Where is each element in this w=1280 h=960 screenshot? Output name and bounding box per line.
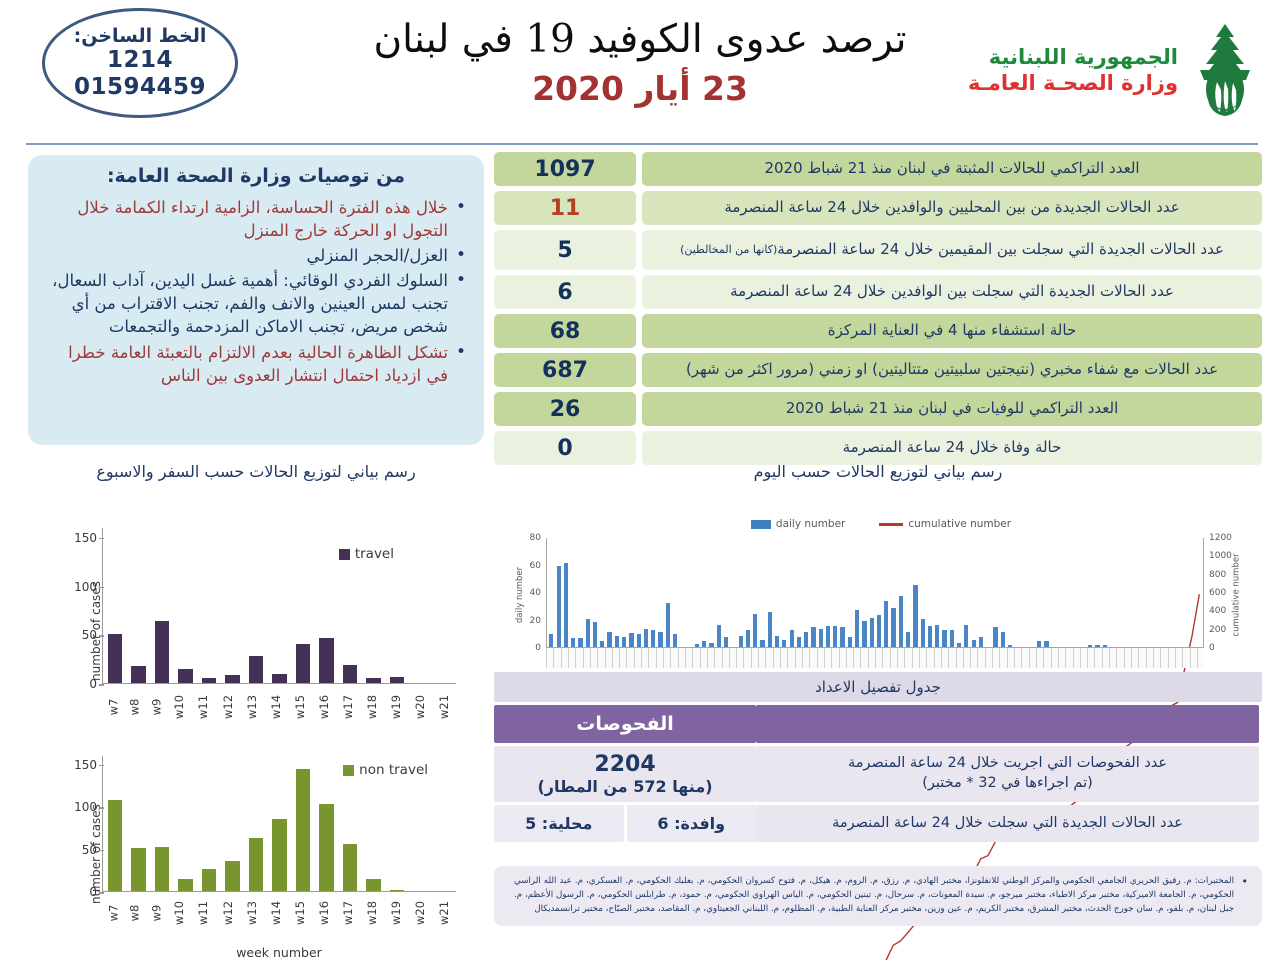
- daily-x-tick: [956, 648, 963, 668]
- daily-legend: daily number cumulative number: [500, 518, 1262, 530]
- daily-x-tick: [926, 648, 933, 668]
- tests-exams-airport-note: (منها 572 من المطار): [537, 777, 712, 796]
- daily-x-tick: [1087, 648, 1094, 668]
- recommendations-panel: من توصيات وزارة الصحة العامة: خلال هذه ا…: [28, 155, 484, 445]
- tests-table: جدول تفصيل الاعداد الفحوصات عدد الفحوصات…: [494, 672, 1262, 842]
- daily-x-tick: [1168, 648, 1175, 668]
- tests-exams-count: 2204: [594, 752, 655, 777]
- daily-x-tick: [765, 648, 772, 668]
- tests-new-cases-incoming: وافدة: 6: [627, 805, 757, 842]
- tests-row-new-cases: عدد الحالات الجديدة التي سجلت خلال 24 سا…: [494, 805, 1262, 842]
- chart-travel-cases: number of cases 050100150 w7w8w9w10w11w1…: [44, 520, 464, 742]
- nontravel-legend: non travel: [343, 762, 428, 778]
- hotline-badge: الخط الساخن: 1214 01594459: [42, 8, 238, 118]
- bar-cell: [244, 528, 268, 684]
- cumulative-legend-swatch: [879, 523, 903, 526]
- daily-x-tick: [1029, 648, 1036, 668]
- cumulative-y-tick: 600: [1209, 588, 1226, 598]
- daily-x-tick: [904, 648, 911, 668]
- x-label: w8: [124, 892, 146, 938]
- hotline-number-primary: 1214: [107, 47, 173, 74]
- bar-cell: [291, 756, 315, 892]
- nontravel-x-axis-title: week number: [102, 945, 456, 960]
- daily-x-tick: [663, 648, 670, 668]
- daily-x-tick: [707, 648, 714, 668]
- chart-cases-by-day: daily number cumulative number daily num…: [500, 516, 1262, 674]
- daily-x-tick: [1007, 648, 1014, 668]
- chart-non-travel-cases: number of cases 050100150 w7w8w9w10w11w1…: [44, 748, 464, 960]
- daily-x-tick: [1131, 648, 1138, 668]
- daily-x-tick: [948, 648, 955, 668]
- x-label: w9: [146, 892, 168, 938]
- bar-cell: [244, 756, 268, 892]
- stat-label-note-3: (كانها من المخالطين): [680, 244, 777, 257]
- travel-plot-area: 050100150: [102, 528, 456, 684]
- daily-x-tick: [1124, 648, 1131, 668]
- x-label: w21: [432, 892, 456, 938]
- daily-x-tick: [992, 648, 999, 668]
- stat-row: حالة وفاة خلال 24 ساعة المنصرمة0: [494, 431, 1262, 465]
- daily-y-tick: 80: [530, 533, 541, 543]
- daily-x-tick: [860, 648, 867, 668]
- daily-x-tick: [839, 648, 846, 668]
- daily-x-tick: [641, 648, 648, 668]
- daily-x-tick: [751, 648, 758, 668]
- daily-x-tick: [634, 648, 641, 668]
- daily-x-tick: [846, 648, 853, 668]
- daily-x-tick: [605, 648, 612, 668]
- x-label: w11: [191, 892, 215, 938]
- bar-cell: [315, 528, 339, 684]
- stat-label-6: عدد الحالات مع شفاء مخبري (نتيجتين سلبيت…: [642, 353, 1262, 387]
- daily-x-tick: [1094, 648, 1101, 668]
- daily-x-tick: [1116, 648, 1123, 668]
- daily-x-tick: [1160, 648, 1167, 668]
- daily-legend-label: daily number: [776, 518, 845, 530]
- daily-x-tick: [831, 648, 838, 668]
- cedar-tree-icon: [1186, 20, 1264, 120]
- daily-x-tick: [985, 648, 992, 668]
- bar-w14: [272, 819, 287, 892]
- daily-x-tick: [787, 648, 794, 668]
- daily-x-tick-labels: [546, 648, 1204, 668]
- stat-label-8: حالة وفاة خلال 24 ساعة المنصرمة: [642, 431, 1262, 465]
- daily-x-tick: [1058, 648, 1065, 668]
- y-tick: 100: [74, 800, 97, 814]
- daily-y-tick: 40: [530, 588, 541, 598]
- tests-header-spacer: [756, 705, 1259, 743]
- bar-w15: [249, 656, 264, 684]
- stat-row: العدد التراكمي للحالات المثبتة في لبنان …: [494, 152, 1262, 186]
- y-tick: 150: [74, 758, 97, 772]
- travel-x-labels: w7w8w9w10w11w12w13w14w15w16w17w18w19w20w…: [102, 686, 456, 732]
- bar-cell: [197, 756, 221, 892]
- daily-x-tick: [722, 648, 729, 668]
- daily-x-tick: [897, 648, 904, 668]
- x-label: w15: [288, 892, 312, 938]
- stat-label-3: عدد الحالات الجديدة التي سجلت بين المقيم…: [642, 230, 1262, 270]
- x-label: w17: [336, 686, 360, 732]
- daily-x-tick: [678, 648, 685, 668]
- daily-x-tick: [1021, 648, 1028, 668]
- bar-w12: [319, 638, 334, 684]
- page-header: الخط الساخن: 1214 01594459 ترصد عدوى الك…: [0, 0, 1280, 146]
- daily-x-tick: [1109, 648, 1116, 668]
- tests-new-cases-local: محلية: 5: [494, 805, 624, 842]
- bar-w16: [225, 861, 240, 892]
- daily-x-tick: [912, 648, 919, 668]
- bar-cell: [268, 756, 292, 892]
- daily-x-tick: [714, 648, 721, 668]
- bar-cell: [150, 528, 174, 684]
- bar-cell: [291, 528, 315, 684]
- labs-footnote-text: المختبرات: م. رفيق الحريري الجامعي الحكو…: [514, 874, 1248, 916]
- daily-x-tick: [824, 648, 831, 668]
- daily-x-tick: [692, 648, 699, 668]
- bar-cell: [127, 528, 151, 684]
- daily-x-tick: [1175, 648, 1182, 668]
- daily-x-tick: [934, 648, 941, 668]
- bar-w21: [108, 634, 123, 684]
- daily-x-tick: [656, 648, 663, 668]
- daily-x-tick: [809, 648, 816, 668]
- stat-label-2: عدد الحالات الجديدة من بين المحليين والو…: [642, 191, 1262, 225]
- x-label: w19: [384, 686, 408, 732]
- hotline-label: الخط الساخن:: [74, 25, 207, 47]
- daily-legend-bars: daily number: [751, 518, 845, 530]
- stat-value-6: 687: [494, 353, 636, 387]
- y-tick: 50: [82, 628, 97, 642]
- daily-x-tick: [1080, 648, 1087, 668]
- daily-x-tick: [1182, 648, 1189, 668]
- daily-y-tick: 60: [530, 561, 541, 571]
- stat-label-7: العدد التراكمي للوفيات في لبنان منذ 21 ش…: [642, 392, 1262, 426]
- y-tick: 150: [74, 531, 97, 545]
- stat-value-7: 26: [494, 392, 636, 426]
- daily-x-tick: [802, 648, 809, 668]
- x-label: w13: [240, 892, 264, 938]
- daily-x-tick: [561, 648, 568, 668]
- daily-x-tick: [553, 648, 560, 668]
- x-label: w18: [360, 686, 384, 732]
- y-tick: 0: [89, 677, 97, 691]
- labs-footnote: المختبرات: م. رفيق الحريري الجامعي الحكو…: [494, 866, 1262, 926]
- stat-value-4: 6: [494, 275, 636, 309]
- bar-w19: [155, 621, 170, 684]
- x-label: w10: [167, 686, 191, 732]
- y-tick: 0: [89, 885, 97, 899]
- daily-x-tick: [875, 648, 882, 668]
- daily-x-tick: [1043, 648, 1050, 668]
- daily-x-tick: [619, 648, 626, 668]
- daily-x-tick: [1190, 648, 1197, 668]
- daily-x-tick: [597, 648, 604, 668]
- daily-x-tick: [729, 648, 736, 668]
- daily-x-tick: [970, 648, 977, 668]
- tests-table-title: جدول تفصيل الاعداد: [494, 672, 1262, 702]
- daily-x-tick: [736, 648, 743, 668]
- daily-x-tick: [1051, 648, 1058, 668]
- stat-row: عدد الحالات مع شفاء مخبري (نتيجتين سلبيت…: [494, 353, 1262, 387]
- bar-cell: [268, 528, 292, 684]
- bar-cell: [197, 528, 221, 684]
- daily-x-tick: [941, 648, 948, 668]
- daily-x-tick: [1036, 648, 1043, 668]
- cumulative-y-tick: 1000: [1209, 551, 1232, 561]
- bar-cell: [174, 756, 198, 892]
- stat-row: عدد الحالات الجديدة التي سجلت بين المقيم…: [494, 230, 1262, 270]
- stat-row: العدد التراكمي للوفيات في لبنان منذ 21 ش…: [494, 392, 1262, 426]
- daily-x-tick: [1014, 648, 1021, 668]
- bar-cell: [315, 756, 339, 892]
- x-label: w17: [336, 892, 360, 938]
- daily-x-tick: [977, 648, 984, 668]
- bar-cell: [409, 528, 433, 684]
- x-label: w12: [216, 686, 240, 732]
- x-label: w9: [146, 686, 168, 732]
- daily-x-tick: [853, 648, 860, 668]
- daily-x-tick: [612, 648, 619, 668]
- bar-cell: [432, 528, 456, 684]
- daily-x-tick: [817, 648, 824, 668]
- x-label: w14: [264, 892, 288, 938]
- tests-exams-value: 2204 (منها 572 من المطار): [494, 746, 756, 802]
- right-chart-caption: رسم بياني لتوزيع الحالات حسب اليوم: [494, 462, 1262, 481]
- travel-x-axis: [102, 683, 456, 685]
- cumulative-legend-label: cumulative number: [908, 518, 1011, 530]
- daily-x-tick: [626, 648, 633, 668]
- bar-cell: [103, 528, 127, 684]
- tests-new-cases-label: عدد الحالات الجديدة التي سجلت خلال 24 سا…: [756, 805, 1259, 842]
- bar-cell: [103, 756, 127, 892]
- bar-w20: [131, 666, 146, 684]
- travel-legend-swatch: [339, 549, 350, 560]
- bar-cell: [221, 528, 245, 684]
- daily-y-tick: 20: [530, 616, 541, 626]
- cumulative-y-tick: 800: [1209, 570, 1226, 580]
- cumulative-y-tick: 1200: [1209, 533, 1232, 543]
- x-label: w16: [312, 686, 336, 732]
- tests-exams-label: عدد الفحوصات التي اجريت خلال 24 ساعة الم…: [756, 746, 1259, 802]
- stat-label-5: حالة استشفاء منها 4 في العناية المركزة: [642, 314, 1262, 348]
- cumulative-y-tick: 0: [1209, 643, 1215, 653]
- daily-y-axis-title: daily number: [515, 567, 525, 623]
- daily-x-tick: [882, 648, 889, 668]
- tests-table-header: الفحوصات: [494, 705, 1262, 743]
- daily-x-tick: [758, 648, 765, 668]
- daily-plot-area: 020406080020040060080010001200: [546, 538, 1204, 648]
- recommendation-item-4: تشكل الظاهرة الحالية بعدم الالتزام بالتع…: [44, 341, 468, 387]
- x-label: w7: [102, 686, 124, 732]
- daily-x-tick: [743, 648, 750, 668]
- recommendation-item-1: خلال هذه الفترة الحساسة، الزامية ارتداء …: [44, 196, 468, 242]
- daily-x-tick: [546, 648, 553, 668]
- y-tick: 100: [74, 580, 97, 594]
- daily-x-tick: [648, 648, 655, 668]
- bar-w13: [296, 644, 311, 684]
- daily-x-tick: [1153, 648, 1160, 668]
- daily-x-tick: [963, 648, 970, 668]
- daily-legend-line: cumulative number: [879, 518, 1011, 530]
- daily-x-tick: [868, 648, 875, 668]
- x-label: w21: [432, 686, 456, 732]
- cumulative-y-tick: 200: [1209, 625, 1226, 635]
- y-tick: 50: [82, 843, 97, 857]
- x-label: w19: [384, 892, 408, 938]
- x-label: w12: [216, 892, 240, 938]
- bar-cell: [432, 756, 456, 892]
- logo-ministry-line: وزارة الصحـة العامـة: [968, 71, 1178, 95]
- tests-new-cases-values: وافدة: 6 محلية: 5: [494, 805, 756, 842]
- nontravel-legend-swatch: [343, 765, 354, 776]
- recommendations-list: خلال هذه الفترة الحساسة، الزامية ارتداء …: [44, 196, 468, 387]
- stat-value-5: 68: [494, 314, 636, 348]
- bar-w12: [319, 804, 334, 892]
- recommendation-item-3: السلوك الفردي الوقائي: أهمية غسل اليدين،…: [44, 269, 468, 338]
- stat-value-8: 0: [494, 431, 636, 465]
- ministry-logo-text: الجمهورية اللبنانية وزارة الصحـة العامـة: [968, 44, 1178, 97]
- daily-y-tick: 0: [535, 643, 541, 653]
- daily-x-tick: [568, 648, 575, 668]
- stat-row: حالة استشفاء منها 4 في العناية المركزة68: [494, 314, 1262, 348]
- recommendation-item-2: العزل/الحجر المنزلي: [44, 244, 468, 267]
- daily-x-tick: [795, 648, 802, 668]
- x-label: w20: [408, 686, 432, 732]
- daily-x-tick: [999, 648, 1006, 668]
- daily-x-tick: [670, 648, 677, 668]
- daily-x-tick: [773, 648, 780, 668]
- bar-cell: [174, 528, 198, 684]
- bar-w17: [202, 869, 217, 892]
- bar-w11: [343, 844, 358, 892]
- stat-value-1: 1097: [494, 152, 636, 186]
- travel-legend-label: travel: [355, 546, 394, 562]
- bar-w15: [249, 838, 264, 892]
- x-label: w18: [360, 892, 384, 938]
- daily-x-tick: [1146, 648, 1153, 668]
- daily-x-tick: [583, 648, 590, 668]
- tests-header-label: الفحوصات: [494, 705, 756, 743]
- bar-cell: [127, 756, 151, 892]
- daily-x-tick: [1197, 648, 1204, 668]
- stat-row: عدد الحالات الجديدة من بين المحليين والو…: [494, 191, 1262, 225]
- bar-w21: [108, 800, 123, 892]
- travel-legend: travel: [339, 546, 394, 562]
- stat-label-1: العدد التراكمي للحالات المثبتة في لبنان …: [642, 152, 1262, 186]
- bar-w19: [155, 847, 170, 892]
- daily-legend-swatch: [751, 520, 771, 529]
- header-divider: [26, 143, 1258, 145]
- daily-x-tick: [1102, 648, 1109, 668]
- daily-x-tick: [1065, 648, 1072, 668]
- bar-cell: [150, 756, 174, 892]
- hotline-number-secondary: 01594459: [74, 74, 206, 101]
- left-charts-caption: رسم بياني لتوزيع الحالات حسب السفر والاس…: [28, 462, 484, 481]
- daily-x-tick: [575, 648, 582, 668]
- ministry-logo: الجمهورية اللبنانية وزارة الصحـة العامـة: [968, 20, 1264, 120]
- report-date: 23 أيار 2020: [330, 69, 950, 108]
- x-label: w7: [102, 892, 124, 938]
- cumulative-y-tick: 400: [1209, 606, 1226, 616]
- x-label: w14: [264, 686, 288, 732]
- stat-label-4: عدد الحالات الجديدة التي سجلت بين الوافد…: [642, 275, 1262, 309]
- x-label: w8: [124, 686, 146, 732]
- bar-w20: [131, 848, 146, 892]
- stat-row: عدد الحالات الجديدة التي سجلت بين الوافد…: [494, 275, 1262, 309]
- tests-exams-label-line2: (تم اجراءها في 32 * مختبر): [922, 774, 1093, 794]
- bar-cell: [221, 756, 245, 892]
- daily-x-tick: [1138, 648, 1145, 668]
- x-label: w11: [191, 686, 215, 732]
- statistics-table: العدد التراكمي للحالات المثبتة في لبنان …: [494, 152, 1262, 470]
- x-label: w10: [167, 892, 191, 938]
- tests-row-exams: عدد الفحوصات التي اجريت خلال 24 ساعة الم…: [494, 746, 1262, 802]
- title-block: ترصد عدوى الكوفيد 19 في لبنان 23 أيار 20…: [330, 16, 950, 108]
- daily-x-tick: [685, 648, 692, 668]
- bar-w11: [343, 665, 358, 685]
- x-label: w15: [288, 686, 312, 732]
- daily-x-tick: [700, 648, 707, 668]
- nontravel-x-labels: w7w8w9w10w11w12w13w14w15w16w17w18w19w20w…: [102, 892, 456, 938]
- daily-x-tick: [890, 648, 897, 668]
- nontravel-legend-label: non travel: [359, 762, 428, 778]
- daily-x-tick: [1073, 648, 1080, 668]
- page-title: ترصد عدوى الكوفيد 19 في لبنان: [330, 16, 950, 65]
- stat-value-2: 11: [494, 191, 636, 225]
- cumulative-y-axis-title: cumulative number: [1231, 553, 1241, 636]
- daily-x-tick: [919, 648, 926, 668]
- daily-x-tick: [590, 648, 597, 668]
- x-label: w13: [240, 686, 264, 732]
- travel-bars: [103, 528, 456, 684]
- tests-exams-label-line1: عدد الفحوصات التي اجريت خلال 24 ساعة الم…: [848, 754, 1167, 774]
- x-label: w16: [312, 892, 336, 938]
- daily-x-tick: [780, 648, 787, 668]
- stat-value-3: 5: [494, 230, 636, 270]
- logo-republic-line: الجمهورية اللبنانية: [989, 45, 1178, 69]
- bar-w13: [296, 769, 311, 892]
- recommendations-title: من توصيات وزارة الصحة العامة:: [44, 165, 468, 187]
- report-page: الخط الساخن: 1214 01594459 ترصد عدوى الك…: [0, 0, 1280, 960]
- x-label: w20: [408, 892, 432, 938]
